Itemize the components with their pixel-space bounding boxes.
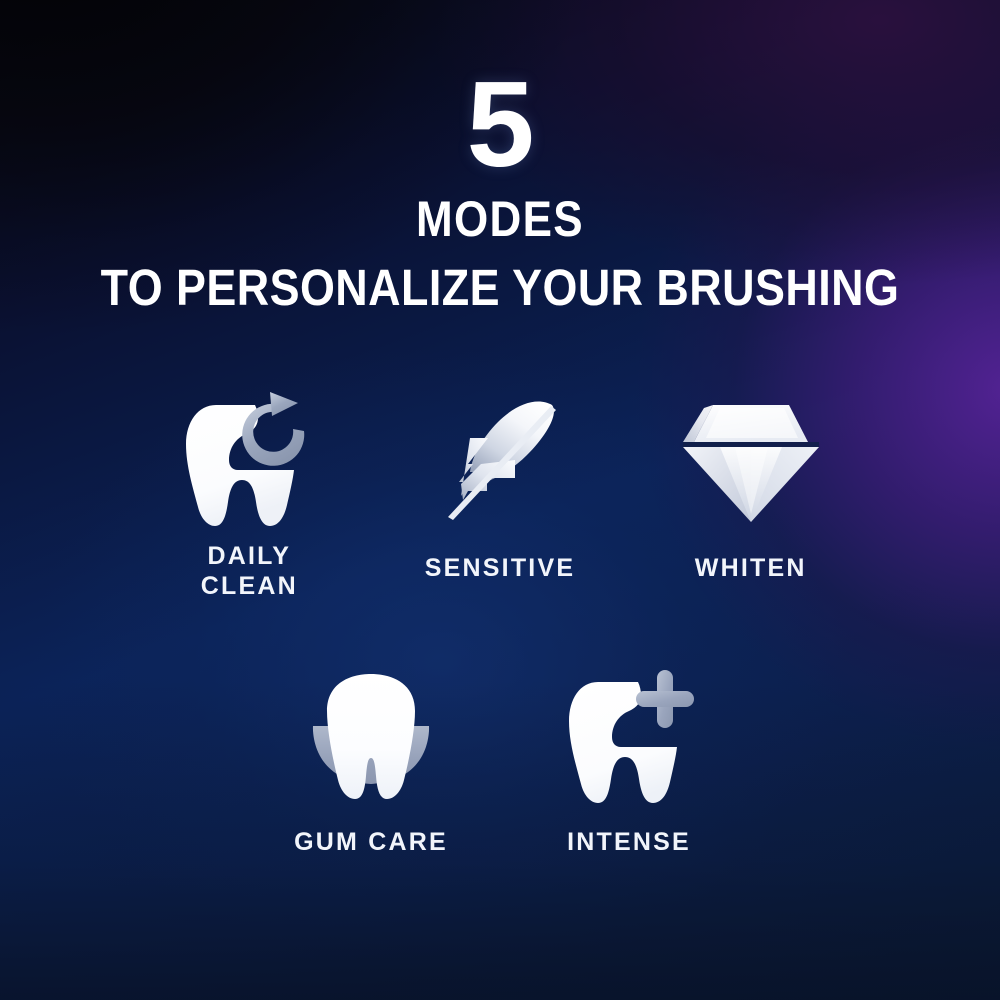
headline-subject: MODES — [60, 194, 940, 244]
mode-label-whiten: WHITEN — [695, 554, 807, 584]
diamond-icon — [680, 396, 822, 528]
mode-icon-wrap — [680, 392, 822, 532]
mode-item-intense[interactable]: INTENSE — [544, 668, 714, 858]
headline-tagline: TO PERSONALIZE YOUR BRUSHING — [60, 262, 940, 313]
promo-banner: 5 MODES TO PERSONALIZE YOUR BRUSHING — [0, 0, 1000, 1000]
tooth-rotating-arrow-icon — [180, 392, 318, 532]
mode-item-gum-care[interactable]: GUM CARE — [286, 668, 456, 858]
mode-icon-wrap — [435, 392, 565, 532]
mode-label-intense: INTENSE — [567, 828, 691, 858]
mode-label-gum-care: GUM CARE — [294, 828, 448, 858]
mode-label-daily-clean: DAILY CLEAN — [201, 542, 298, 601]
tooth-plus-icon — [562, 668, 696, 808]
feather-icon — [435, 396, 565, 528]
modes-row-top: DAILY CLEAN — [170, 392, 830, 601]
mode-icon-wrap — [301, 668, 441, 808]
mode-icon-wrap — [180, 392, 318, 532]
tooth-gum-icon — [301, 668, 441, 808]
mode-item-daily-clean[interactable]: DAILY CLEAN — [170, 392, 329, 601]
mode-icon-wrap — [562, 668, 696, 808]
mode-count-number: 5 — [0, 74, 1000, 174]
mode-item-sensitive[interactable]: SENSITIVE — [421, 392, 580, 584]
mode-label-sensitive: SENSITIVE — [425, 554, 575, 584]
headline-block: 5 MODES TO PERSONALIZE YOUR BRUSHING — [0, 74, 1000, 313]
modes-row-bottom: GUM CARE — [255, 668, 745, 858]
mode-item-whiten[interactable]: WHITEN — [671, 392, 830, 584]
